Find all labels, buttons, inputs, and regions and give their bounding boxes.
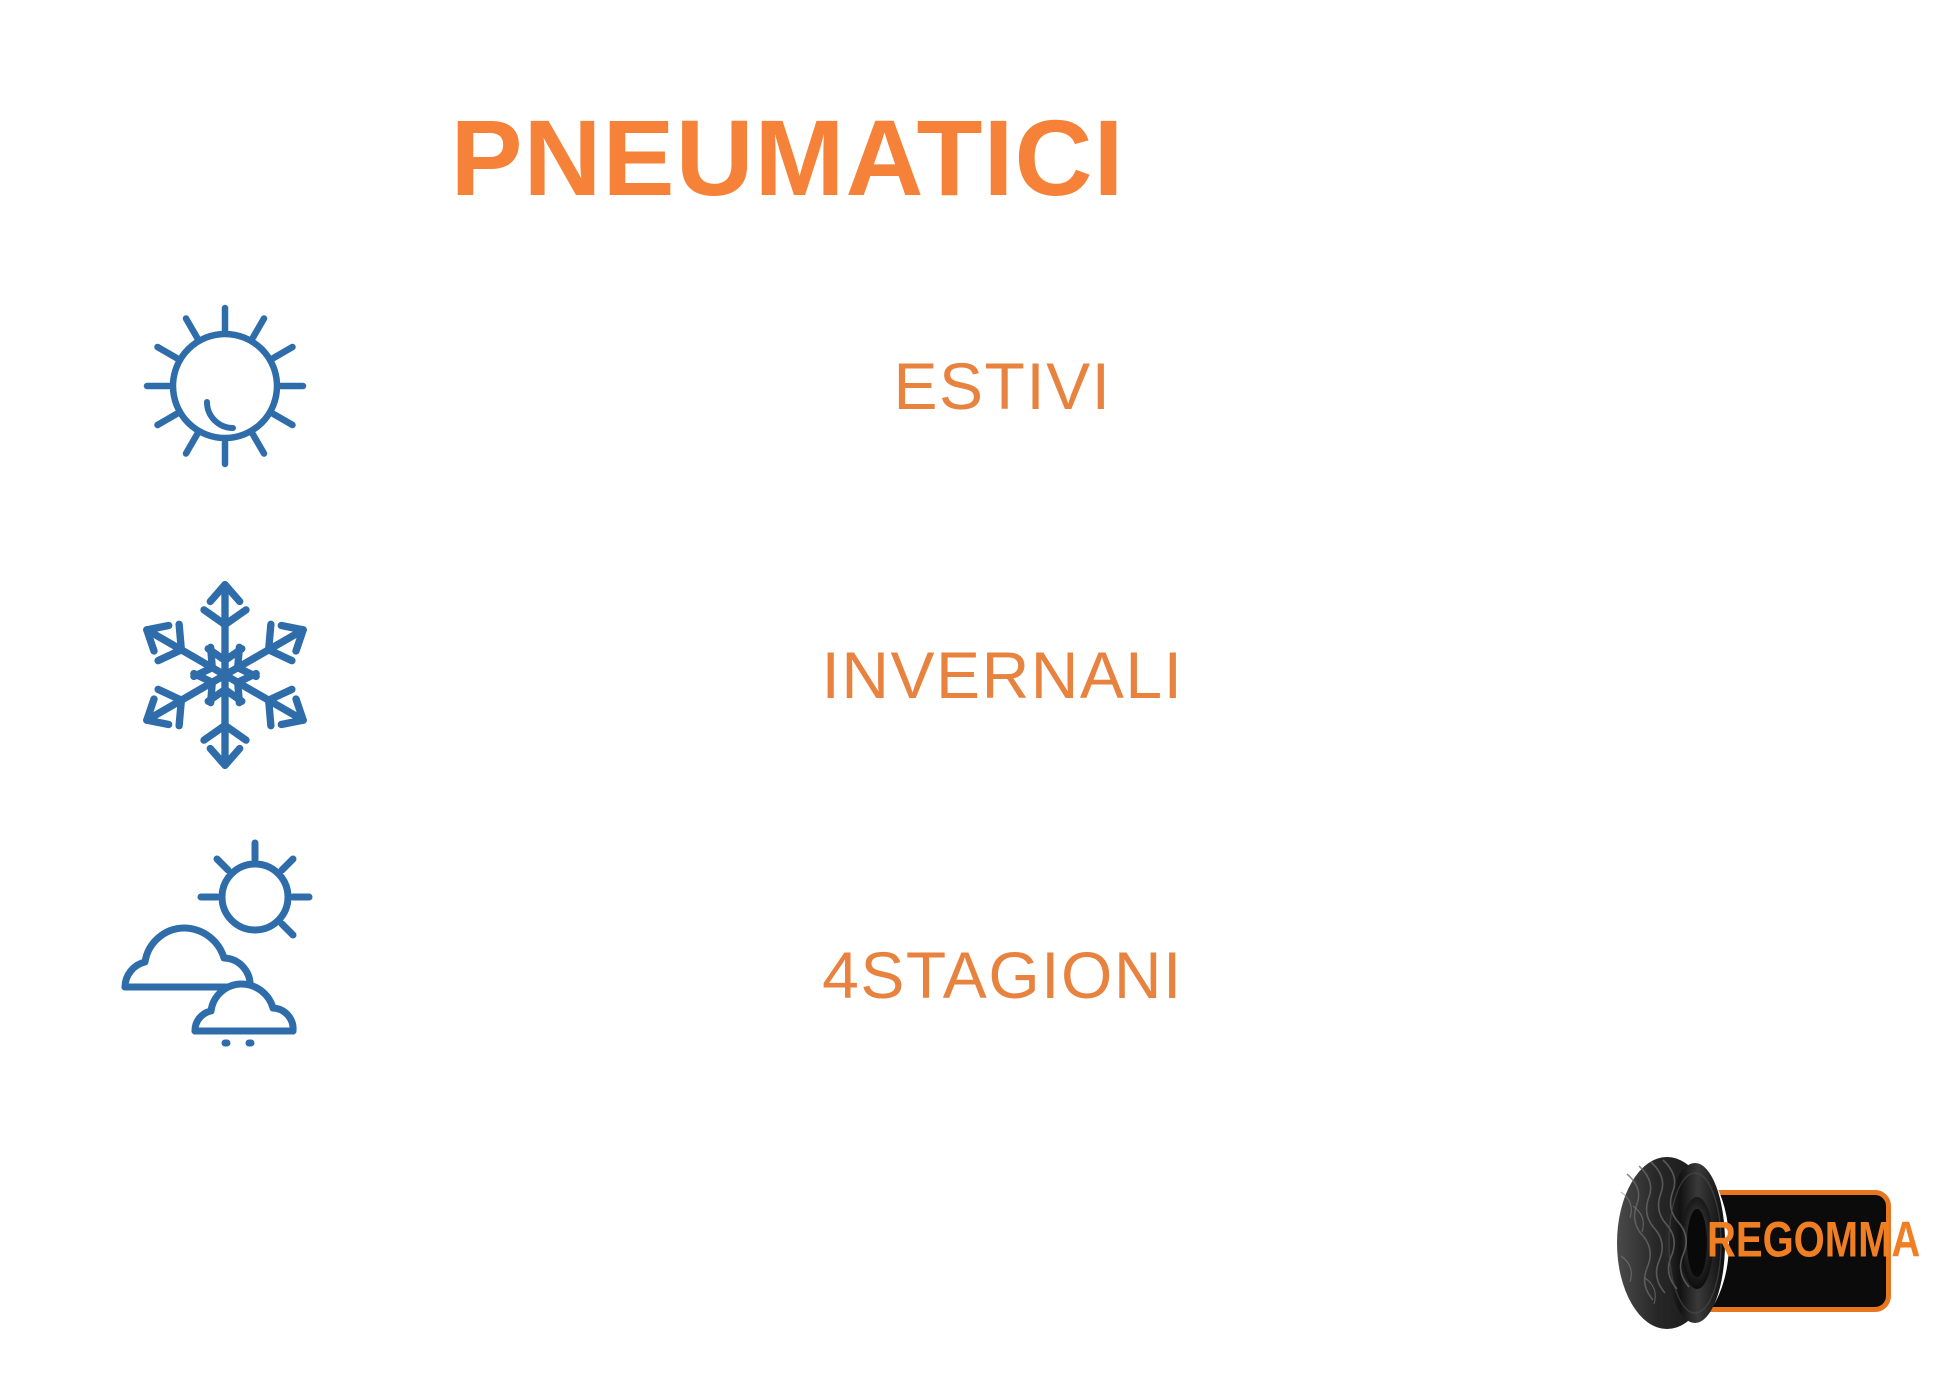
tyre-type-label-winter: INVERNALI [822,637,1184,713]
sun-icon [125,286,325,486]
sun-icon-cell [0,256,450,516]
sun-behind-cloud-icon [103,835,348,1050]
brand-logo[interactable]: REGOMMA [1607,1146,1893,1362]
tyre-type-row-winter: INVERNALI [0,545,1575,805]
tyre-type-row-allseason: 4STAGIONI [0,830,1575,1090]
page-title: PNEUMATICI [0,104,1575,212]
snowflake-icon [120,570,330,780]
allseason-label-cell: 4STAGIONI [450,830,1575,1090]
sun-behind-cloud-icon-cell [0,825,450,1095]
snowflake-icon-cell [0,545,450,805]
tyre-type-label-summer: ESTIVI [893,348,1111,424]
summer-label-cell: ESTIVI [450,256,1575,516]
winter-label-cell: INVERNALI [450,545,1575,805]
logo-wordmark: REGOMMA [1707,1215,1897,1265]
tyre-type-row-summer: ESTIVI [0,256,1575,516]
tyre-type-label-allseason: 4STAGIONI [822,937,1183,1013]
poster-canvas: PNEUMATICI [0,0,1946,1376]
